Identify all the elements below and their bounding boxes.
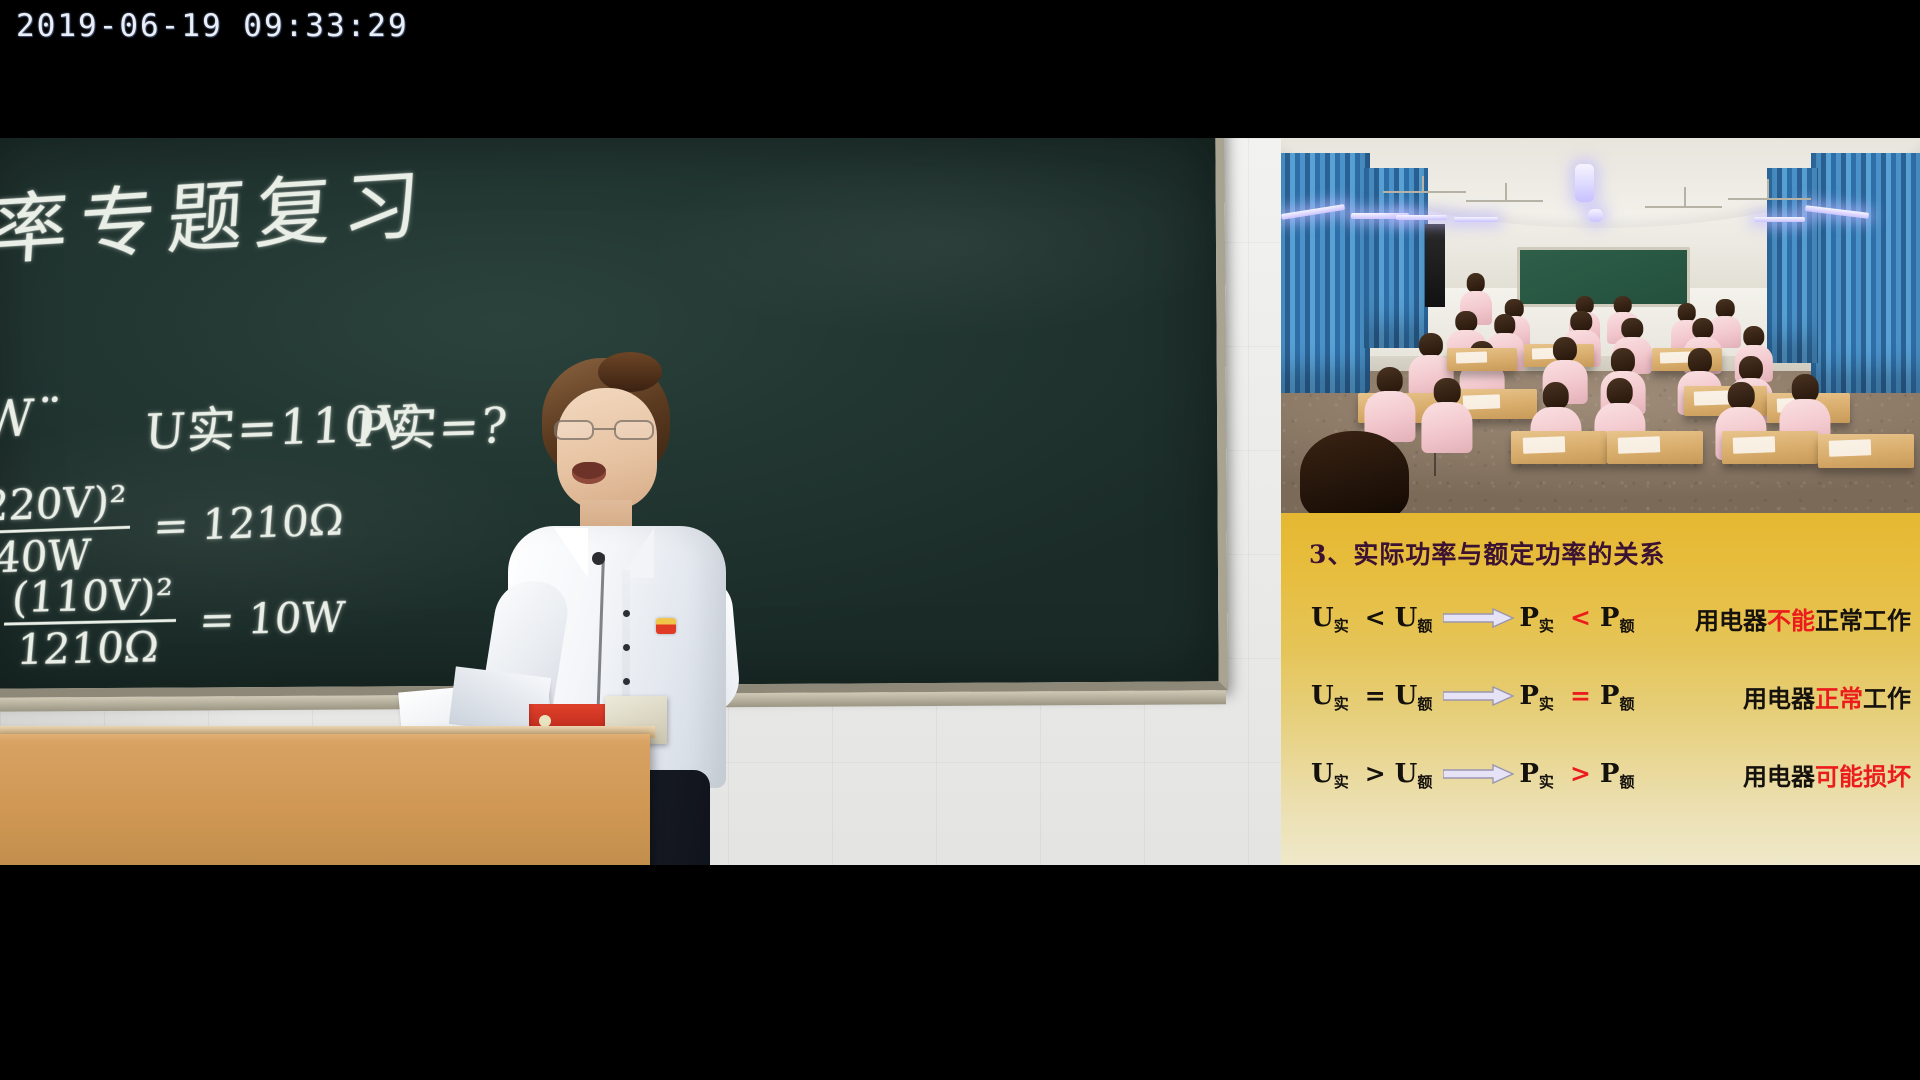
right-symbol-2: P (1600, 681, 1620, 711)
conclusion-highlight: 正常 (1815, 685, 1863, 713)
right-operator: > (1570, 759, 1591, 788)
classroom-video-feed (1281, 138, 1920, 513)
right-subscript: 实 (1539, 693, 1554, 714)
student-desk (1511, 431, 1607, 465)
student-desk (1607, 431, 1703, 465)
slide-title: 3、实际功率与额定功率的关系 (1309, 535, 1665, 571)
fluorescent-light (1588, 209, 1603, 222)
slide-relation-row: U实 = U额 P实 = P额 用电器正常工作 (1311, 673, 1911, 719)
left-subscript-2: 额 (1417, 693, 1432, 714)
conclusion-prefix: 用电器 (1695, 607, 1767, 635)
recording-timestamp: 2019-06-19 09:33:29 (16, 8, 409, 44)
formula-2-result: = 10W (187, 592, 346, 644)
teacher-hair-bun (598, 352, 662, 392)
ceiling-fan (1728, 198, 1811, 200)
student (1364, 367, 1415, 442)
student-body (1422, 402, 1473, 453)
left-symbol-2: U (1395, 603, 1418, 633)
shirt-button (623, 678, 630, 685)
right-symbol-2: P (1600, 603, 1620, 633)
left-symbol: U (1311, 759, 1334, 789)
glasses-icon (552, 420, 664, 440)
formula-1-result: = 1210Ω (142, 495, 346, 551)
left-expression: U实 = U额 (1311, 681, 1439, 711)
student-head (1728, 382, 1755, 410)
right-subscript: 实 (1539, 615, 1554, 636)
shirt-button (623, 610, 630, 617)
window-curtain (1811, 153, 1920, 393)
student-head (1434, 378, 1461, 405)
student-head (1419, 333, 1443, 357)
ceiling-fan (1466, 200, 1543, 202)
formula-2-fraction: (110V)² 1210Ω (0, 570, 180, 675)
left-expression: U实 > U额 (1311, 759, 1439, 789)
right-subscript-2: 额 (1619, 693, 1634, 714)
glasses-left-lens (554, 420, 594, 440)
right-symbol: P (1519, 603, 1539, 633)
teacher-collar-left (554, 528, 588, 578)
shirt-button (623, 644, 630, 651)
left-subscript-2: 额 (1417, 615, 1432, 636)
teacher-face (557, 388, 657, 510)
left-symbol: U (1311, 681, 1334, 711)
conclusion-highlight: 不能 (1767, 607, 1815, 635)
blackboard-chalk-fragment: W¨ (0, 389, 66, 449)
podium (0, 734, 650, 865)
right-subscript: 实 (1539, 771, 1554, 792)
implies-arrow-icon (1443, 763, 1515, 785)
right-subscript-2: 额 (1619, 615, 1634, 636)
slide-relation-row: U实 > U额 P实 > P额 用电器可能损坏 (1311, 751, 1911, 797)
student-head (1606, 378, 1633, 406)
row-conclusion: 用电器不能正常工作 (1695, 601, 1911, 636)
right-operator: < (1570, 603, 1591, 632)
student-head (1687, 348, 1711, 374)
left-operator: < (1365, 603, 1386, 632)
formula-2-denominator: 1210Ω (0, 619, 176, 675)
left-symbol-2: U (1395, 681, 1418, 711)
row-conclusion: 用电器正常工作 (1743, 679, 1911, 714)
microphone-icon (592, 552, 605, 565)
left-subscript: 实 (1334, 771, 1349, 792)
student-desk (1722, 431, 1818, 465)
foreground-student-head (1300, 431, 1409, 514)
ceiling-fan (1383, 191, 1466, 193)
window-curtain (1281, 153, 1370, 393)
teacher-lapel-badge (656, 618, 676, 634)
glasses-right-lens (614, 420, 654, 440)
conclusion-suffix: 工作 (1863, 685, 1911, 713)
student-desk (1447, 348, 1517, 371)
right-operator: = (1570, 681, 1591, 710)
left-subscript: 实 (1334, 615, 1349, 636)
implies-arrow-icon (1443, 685, 1515, 707)
conclusion-suffix: 正常工作 (1815, 607, 1911, 635)
right-expression: P实 = P额 (1519, 681, 1641, 711)
student-head (1553, 337, 1577, 363)
fluorescent-light (1396, 215, 1447, 220)
window-curtain (1364, 168, 1428, 348)
blackboard-chalk-formula-2: (110V)² 1210Ω = 10W (0, 566, 349, 674)
conclusion-prefix: 用电器 (1743, 763, 1815, 791)
formula-1-fraction: (220V)² 40W (0, 477, 134, 584)
formula-2-numerator: (110V)² (4, 570, 180, 623)
left-operator: = (1365, 681, 1386, 710)
ceiling-fan-rod (1505, 183, 1507, 200)
ceiling-fan-rod (1767, 179, 1769, 198)
left-subscript-2: 额 (1417, 771, 1432, 792)
fluorescent-light (1575, 164, 1594, 202)
right-expression: P实 < P额 (1519, 603, 1641, 633)
student-head (1542, 382, 1569, 410)
right-symbol: P (1519, 681, 1539, 711)
left-operator: > (1365, 759, 1386, 788)
left-expression: U实 < U额 (1311, 603, 1439, 633)
ceiling-fan-rod (1684, 187, 1686, 206)
recording-canvas: 2019-06-19 09:33:29 率专题复习 W¨ U实=110V P实=… (0, 0, 1920, 1080)
student-desk (1818, 434, 1914, 468)
ceiling-fan (1645, 206, 1722, 208)
teacher-mouth (572, 462, 606, 484)
right-symbol-2: P (1600, 759, 1620, 789)
formula-1-numerator: (220V)² (0, 477, 134, 532)
fluorescent-light (1454, 217, 1499, 222)
right-expression: P实 > P额 (1519, 759, 1641, 789)
right-column: 3、实际功率与额定功率的关系 U实 < U额 P实 < P额 (1281, 0, 1920, 1080)
classroom-rear-blackboard (1517, 247, 1690, 307)
teacher-video-feed: 率专题复习 W¨ U实=110V P实=? (220V)² 40W = 1210… (0, 138, 1281, 865)
classroom-door (1425, 224, 1445, 307)
student (1422, 378, 1473, 453)
implies-arrow-icon (1443, 607, 1515, 629)
left-subscript: 实 (1334, 693, 1349, 714)
left-symbol-2: U (1395, 759, 1418, 789)
ceiling-fan-rod (1422, 176, 1424, 191)
fluorescent-light (1754, 217, 1805, 222)
student-head (1611, 348, 1635, 374)
student-head (1376, 367, 1403, 394)
left-symbol: U (1311, 603, 1334, 633)
student-head (1739, 356, 1763, 382)
presentation-slide: 3、实际功率与额定功率的关系 U实 < U额 P实 < P额 (1281, 513, 1920, 865)
right-symbol: P (1519, 759, 1539, 789)
slide-relation-row: U实 < U额 P实 < P额 用电器不能正常工作 (1311, 595, 1911, 641)
right-subscript-2: 额 (1619, 771, 1634, 792)
conclusion-prefix: 用电器 (1743, 685, 1815, 713)
glasses-bridge (594, 428, 616, 430)
student-head (1792, 374, 1819, 402)
conclusion-highlight: 可能损坏 (1815, 763, 1911, 791)
row-conclusion: 用电器可能损坏 (1743, 757, 1911, 792)
